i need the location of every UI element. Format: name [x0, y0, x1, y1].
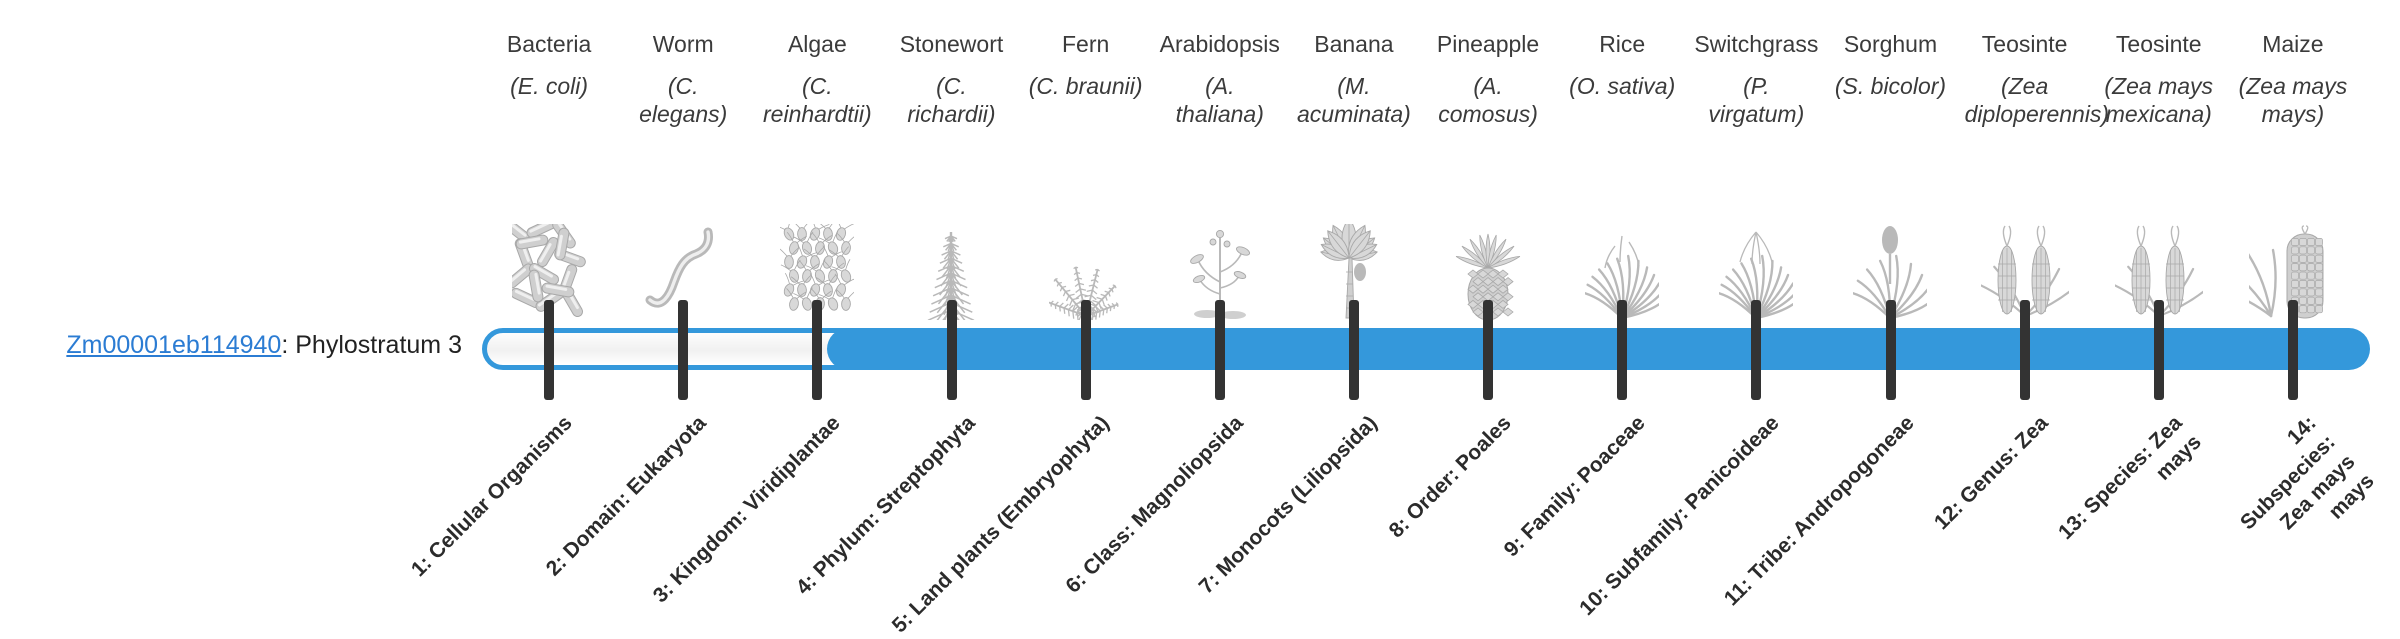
species-common-name: Banana — [1314, 30, 1393, 58]
stonewort-icon — [884, 220, 1018, 320]
gene-id-link[interactable]: Zm00001eb114940 — [66, 331, 281, 359]
species-latin-name: (C. elegans) — [623, 72, 743, 128]
rank-number: 4: — [791, 570, 820, 599]
species-column: Rice(O. sativa) — [1555, 30, 1689, 320]
species-common-name: Stonewort — [900, 30, 1004, 58]
species-column: Pineapple(A. comosus) — [1421, 30, 1555, 320]
pineapple-icon — [1421, 220, 1555, 320]
progress-fill — [827, 328, 2370, 370]
species-common-name: Rice — [1599, 30, 1645, 58]
rank-number: 10: — [1575, 582, 1613, 620]
arabidopsis-icon — [1153, 220, 1287, 320]
sorghum-icon — [1823, 220, 1957, 320]
rank-number: 11: — [1719, 573, 1756, 610]
species-latin-name: (A. thaliana) — [1160, 72, 1280, 128]
species-latin-name: (Zea mays mexicana) — [2099, 72, 2219, 128]
rank-name: Species: Zea mays — [2079, 411, 2205, 518]
species-column: Maize(Zea mays mays) — [2226, 30, 2360, 320]
species-common-name: Arabidopsis — [1160, 30, 1280, 58]
taxonomic-rank-label: 14: Subspecies: Zea mays mays — [2215, 410, 2380, 575]
species-common-name: Sorghum — [1844, 30, 1937, 58]
rank-number: 12: — [1930, 496, 1968, 534]
species-latin-name: (A. comosus) — [1428, 72, 1548, 128]
rank-name: Genus: Zea — [1955, 411, 2052, 508]
species-column: Stonewort(C. richardii) — [884, 30, 1018, 320]
species-latin-name: (Zea diploperennis) — [1965, 72, 2085, 128]
phylostratum-progress-bar[interactable] — [482, 328, 2360, 370]
species-latin-name: (S. bicolor) — [1835, 72, 1946, 100]
worm-icon — [616, 220, 750, 320]
species-column: Bacteria(E. coli) — [482, 30, 616, 320]
taxonomic-rank-label: 12: Genus: Zea — [1928, 410, 2054, 536]
species-latin-name: (O. sativa) — [1569, 72, 1675, 100]
species-common-name: Teosinte — [2116, 30, 2202, 58]
species-common-name: Algae — [788, 30, 847, 58]
species-common-name: Fern — [1062, 30, 1109, 58]
species-column: Sorghum(S. bicolor) — [1823, 30, 1957, 320]
species-header-band: Bacteria(E. coli) — [482, 30, 2360, 320]
teosinte-mex-icon — [2092, 220, 2226, 320]
species-latin-name: (P. virgatum) — [1696, 72, 1816, 128]
rank-name: Subspecies: Zea mays mays — [2236, 431, 2378, 535]
species-common-name: Teosinte — [1982, 30, 2068, 58]
rank-name: Order: Poales — [1402, 411, 1516, 525]
species-column: Banana(M. acuminata) — [1287, 30, 1421, 320]
gene-label-separator: : — [281, 331, 295, 359]
teosinte-diplo-icon — [1958, 220, 2092, 320]
species-common-name: Bacteria — [507, 30, 591, 58]
species-column: Arabidopsis(A. thaliana) — [1153, 30, 1287, 320]
species-column: Teosinte(Zea diploperennis) — [1958, 30, 2092, 320]
species-column: Worm(C. elegans) — [616, 30, 750, 320]
species-common-name: Worm — [653, 30, 714, 58]
phylostratum-value-text: Phylostratum 3 — [295, 331, 462, 359]
rank-number: 5: — [887, 608, 916, 637]
gene-phylostratum-label: Zm00001eb114940: Phylostratum 3 — [0, 331, 462, 360]
species-column: Switchgrass(P. virgatum) — [1689, 30, 1823, 320]
fern-icon — [1019, 220, 1153, 320]
species-latin-name: (C. braunii) — [1029, 72, 1143, 100]
species-latin-name: (E. coli) — [510, 72, 588, 100]
taxonomic-rank-label: 9: Family: Poaceae — [1498, 410, 1651, 563]
algae-icon — [750, 220, 884, 320]
species-common-name: Pineapple — [1437, 30, 1539, 58]
rice-icon — [1555, 220, 1689, 320]
rank-number: 13: — [2054, 506, 2092, 544]
rank-number: 6: — [1061, 568, 1090, 597]
progress-track — [482, 328, 2360, 370]
taxonomic-rank-label: 5: Land plants (Embryophyta) — [886, 410, 1115, 639]
taxonomic-rank-label: 13: Species: Zea mays — [2034, 410, 2208, 584]
species-common-name: Switchgrass — [1694, 30, 1818, 58]
species-latin-name: (C. richardii) — [891, 72, 1011, 128]
species-column: Fern(C. braunii) — [1019, 30, 1153, 320]
rank-name: Domain: Eukaryota — [559, 411, 711, 563]
species-latin-name: (M. acuminata) — [1294, 72, 1414, 128]
species-common-name: Maize — [2262, 30, 2323, 58]
taxonomic-rank-label: 8: Order: Poales — [1383, 410, 1517, 544]
taxonomic-rank-label-group: 1: Cellular Organisms2: Domain: Eukaryot… — [482, 404, 2360, 580]
banana-icon — [1287, 220, 1421, 320]
rank-name: Family: Poaceae — [1517, 411, 1650, 544]
species-column: Algae(C. reinhardtii) — [750, 30, 884, 320]
species-latin-name: (Zea mays mays) — [2233, 72, 2353, 128]
switchgrass-icon — [1689, 220, 1823, 320]
species-latin-name: (C. reinhardtii) — [757, 72, 877, 128]
rank-name: Cellular Organisms — [424, 411, 576, 563]
bacteria-icon — [482, 220, 616, 320]
maize-icon — [2226, 220, 2360, 320]
species-column: Teosinte(Zea mays mexicana) — [2092, 30, 2226, 320]
